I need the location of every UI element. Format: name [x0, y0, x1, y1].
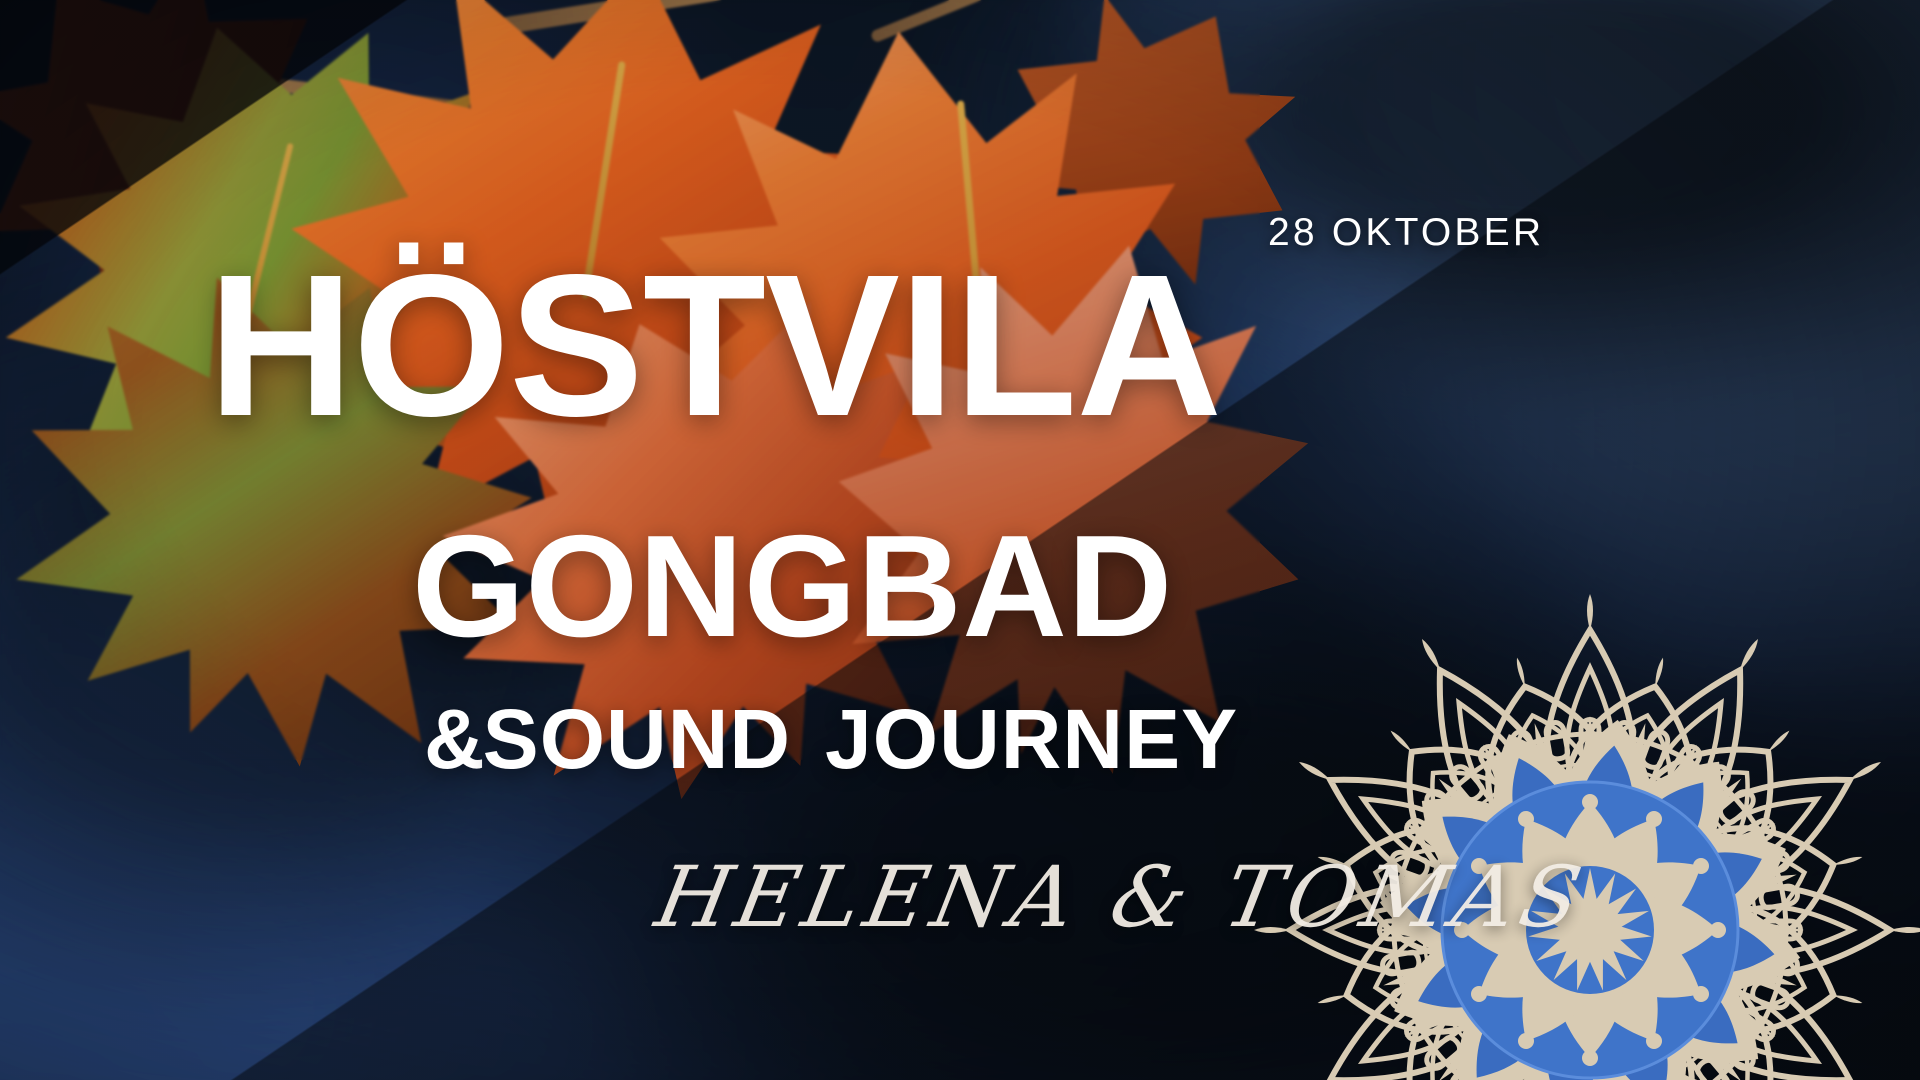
host-signature: HELENA & TOMAS	[648, 848, 1594, 946]
page-title-primary: HÖSTVILA	[208, 252, 1221, 440]
page-title-secondary: GONGBAD	[412, 518, 1173, 656]
subtitle-word-sound: SOUND	[483, 692, 791, 786]
ampersand-glyph: &	[424, 692, 483, 786]
event-poster: 28 OKTOBER HÖSTVILA GONGBAD &SOUNDJOURNE…	[0, 0, 1920, 1080]
subtitle-word-journey: JOURNEY	[825, 692, 1238, 786]
event-date: 28 OKTOBER	[1268, 211, 1544, 255]
page-subtitle: &SOUNDJOURNEY	[424, 697, 1238, 781]
